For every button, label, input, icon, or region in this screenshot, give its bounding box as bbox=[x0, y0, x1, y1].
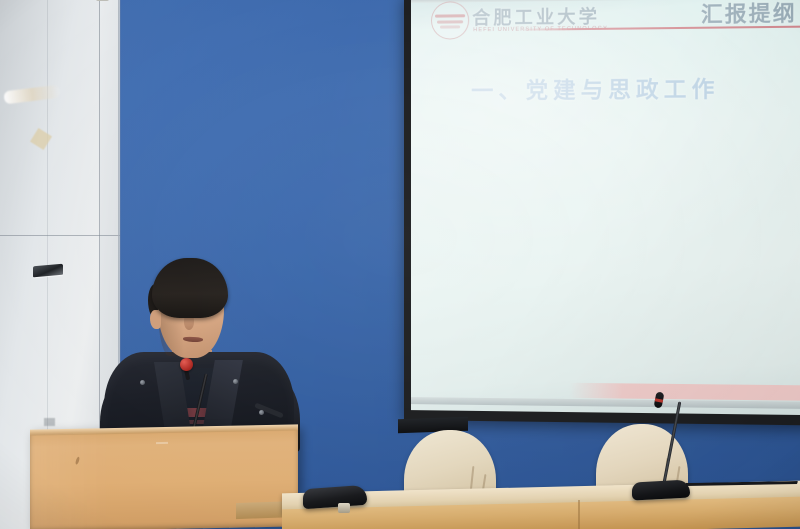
gooseneck-microphone-base[interactable] bbox=[632, 479, 690, 500]
jacket-button-2 bbox=[233, 379, 238, 384]
slide-logo: 合肥工业大学 HEFEI UNIVERSITY OF TECHNOLOGY bbox=[431, 0, 613, 42]
university-emblem-icon bbox=[431, 1, 469, 40]
panel-seam-horizontal bbox=[0, 235, 120, 236]
hair bbox=[152, 258, 228, 318]
podium-clip bbox=[96, 0, 109, 1]
speaker-person bbox=[104, 258, 294, 448]
projection-screen-frame: 合肥工业大学 HEFEI UNIVERSITY OF TECHNOLOGY 汇报… bbox=[404, 0, 800, 425]
microphone-indicator-light bbox=[655, 398, 663, 402]
left-microphone-connector bbox=[338, 503, 350, 513]
screen-glare bbox=[411, 0, 800, 415]
slide-footer-band bbox=[570, 383, 800, 401]
projection-screen-surface: 合肥工业大学 HEFEI UNIVERSITY OF TECHNOLOGY 汇报… bbox=[411, 0, 800, 415]
photo-scene: 合肥工业大学 HEFEI UNIVERSITY OF TECHNOLOGY 汇报… bbox=[0, 0, 800, 529]
ear bbox=[150, 310, 161, 329]
wall-mark bbox=[44, 418, 55, 426]
podium-microphone-windscreen bbox=[180, 358, 193, 371]
table-seam bbox=[578, 500, 580, 529]
slide-header-title: 汇报提纲 bbox=[701, 0, 797, 29]
podium-highlight bbox=[156, 442, 168, 444]
jacket-button bbox=[140, 380, 145, 385]
slide-body-heading: 一、党建与思政工作 bbox=[471, 71, 719, 105]
